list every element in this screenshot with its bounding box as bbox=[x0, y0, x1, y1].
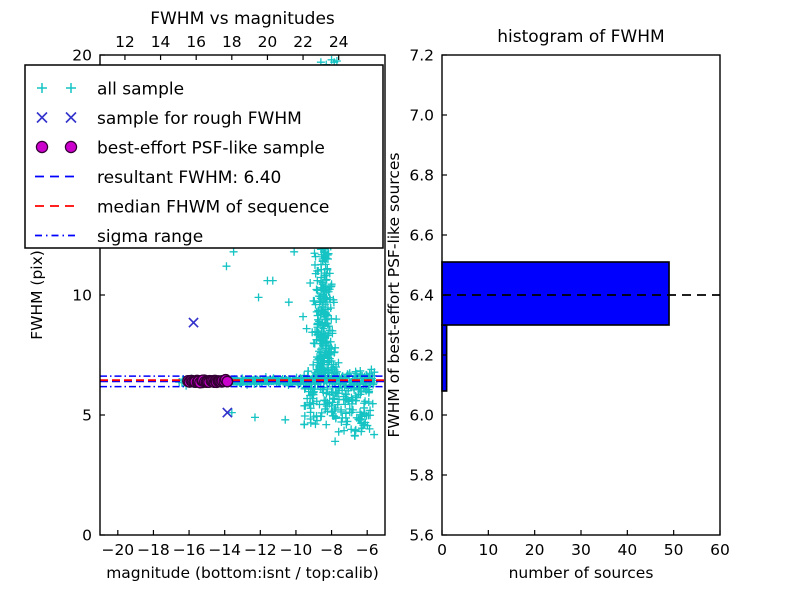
scatter-point-all-sample bbox=[269, 277, 277, 285]
scatter-point-all-sample bbox=[290, 248, 298, 256]
x-tick-label: 30 bbox=[571, 541, 591, 559]
right-yaxis-label: FWHM of best-effort PSF-like sources bbox=[385, 152, 403, 437]
scatter-point-all-sample bbox=[306, 279, 314, 287]
scatter-point-all-sample bbox=[351, 431, 359, 439]
scatter-point-all-sample bbox=[255, 293, 263, 301]
y-tick-label: 0 bbox=[82, 527, 92, 545]
right-xaxis-label: number of sources bbox=[509, 564, 654, 582]
x-tick-label-top: 18 bbox=[222, 33, 242, 51]
x-tick-label: 40 bbox=[617, 541, 637, 559]
scatter-point-all-sample bbox=[322, 421, 330, 429]
x-tick-label: 50 bbox=[664, 541, 684, 559]
x-tick-label-top: 20 bbox=[258, 33, 278, 51]
scatter-point-all-sample bbox=[230, 248, 238, 256]
legend-marker-circle-icon bbox=[36, 141, 47, 152]
x-tick-label-bottom: −16 bbox=[173, 541, 206, 559]
y-tick-label: 6.2 bbox=[409, 347, 434, 365]
y-tick-label: 10 bbox=[72, 287, 92, 305]
x-tick-label: 60 bbox=[710, 541, 730, 559]
x-tick-label-top: 24 bbox=[329, 33, 349, 51]
x-tick-label-top: 14 bbox=[151, 33, 171, 51]
scatter-point-all-sample bbox=[361, 397, 369, 405]
scatter-point-all-sample bbox=[311, 420, 319, 428]
legend-item-label: median FHWM of sequence bbox=[97, 198, 329, 218]
legend-item-label: resultant FWHM: 6.40 bbox=[97, 168, 281, 188]
scatter-point-all-sample bbox=[370, 431, 378, 439]
x-tick-label: 10 bbox=[478, 541, 498, 559]
scatter-point-all-sample bbox=[335, 428, 343, 436]
scatter-point-all-sample bbox=[331, 437, 339, 445]
legend-marker-circle-icon bbox=[65, 141, 76, 152]
scatter-point-all-sample bbox=[299, 313, 307, 321]
y-tick-label: 5.6 bbox=[409, 527, 434, 545]
left-panel-title: FWHM vs magnitudes bbox=[150, 9, 335, 29]
rough-fwhm-series bbox=[189, 318, 232, 417]
x-tick-label: 0 bbox=[437, 541, 447, 559]
scatter-point-all-sample bbox=[222, 262, 230, 270]
scatter-point-all-sample bbox=[300, 420, 308, 428]
figure-canvas: FWHM vs magnitudes−20−18−16−14−12−10−8−6… bbox=[0, 0, 800, 600]
y-tick-label: 5.8 bbox=[409, 467, 434, 485]
y-tick-label: 6.8 bbox=[409, 167, 434, 185]
y-tick-label: 6.4 bbox=[409, 287, 434, 305]
x-tick-label-bottom: −14 bbox=[208, 541, 241, 559]
x-tick-label-top: 16 bbox=[186, 33, 206, 51]
matplotlib-figure: FWHM vs magnitudes−20−18−16−14−12−10−8−6… bbox=[0, 0, 800, 600]
legend-item-label: best-effort PSF-like sample bbox=[97, 139, 325, 159]
y-tick-label: 5 bbox=[82, 407, 92, 425]
scatter-point-all-sample bbox=[303, 325, 311, 333]
right-panel-title: histogram of FWHM bbox=[497, 27, 664, 47]
scatter-point-all-sample bbox=[332, 315, 340, 323]
scatter-point-all-sample bbox=[365, 398, 373, 406]
legend-item-label: sigma range bbox=[97, 227, 203, 247]
y-tick-label: 6.6 bbox=[409, 227, 434, 245]
scatter-point-all-sample bbox=[251, 413, 259, 421]
scatter-point-all-sample bbox=[285, 298, 293, 306]
scatter-point-psf-sample bbox=[222, 376, 232, 386]
scatter-point-rough-sample bbox=[189, 318, 198, 327]
histogram-bar bbox=[442, 262, 669, 325]
x-tick-label-bottom: −18 bbox=[137, 541, 170, 559]
legend-item-label: all sample bbox=[97, 80, 184, 100]
y-tick-label: 6.0 bbox=[409, 407, 434, 425]
scatter-point-all-sample bbox=[352, 426, 360, 434]
left-yaxis-label: FWHM (pix) bbox=[28, 250, 46, 340]
histogram-bars bbox=[442, 262, 669, 391]
left-xaxis-label: magnitude (bottom:isnt / top:calib) bbox=[106, 564, 379, 582]
x-tick-label: 20 bbox=[525, 541, 545, 559]
y-tick-label: 20 bbox=[72, 47, 92, 65]
legend-item-label: sample for rough FWHM bbox=[97, 109, 302, 129]
x-tick-label-top: 22 bbox=[293, 33, 313, 51]
x-tick-label-bottom: −20 bbox=[101, 541, 134, 559]
x-tick-label-bottom: −6 bbox=[356, 541, 379, 559]
scatter-point-all-sample bbox=[281, 416, 289, 424]
x-tick-label-bottom: −12 bbox=[244, 541, 277, 559]
x-tick-label-top: 12 bbox=[115, 33, 135, 51]
scatter-point-all-sample bbox=[228, 409, 236, 417]
legend-box: all samplesample for rough FWHMbest-effo… bbox=[25, 65, 383, 248]
right-panel: histogram of FWHM01020304050605.65.86.06… bbox=[385, 27, 730, 582]
x-tick-label-bottom: −10 bbox=[280, 541, 313, 559]
psf-sample-series bbox=[183, 375, 233, 388]
y-tick-label: 7.0 bbox=[409, 107, 434, 125]
x-tick-label-bottom: −8 bbox=[320, 541, 343, 559]
y-tick-label: 7.2 bbox=[409, 47, 434, 65]
scatter-point-all-sample bbox=[304, 367, 312, 375]
scatter-point-all-sample bbox=[360, 399, 368, 407]
